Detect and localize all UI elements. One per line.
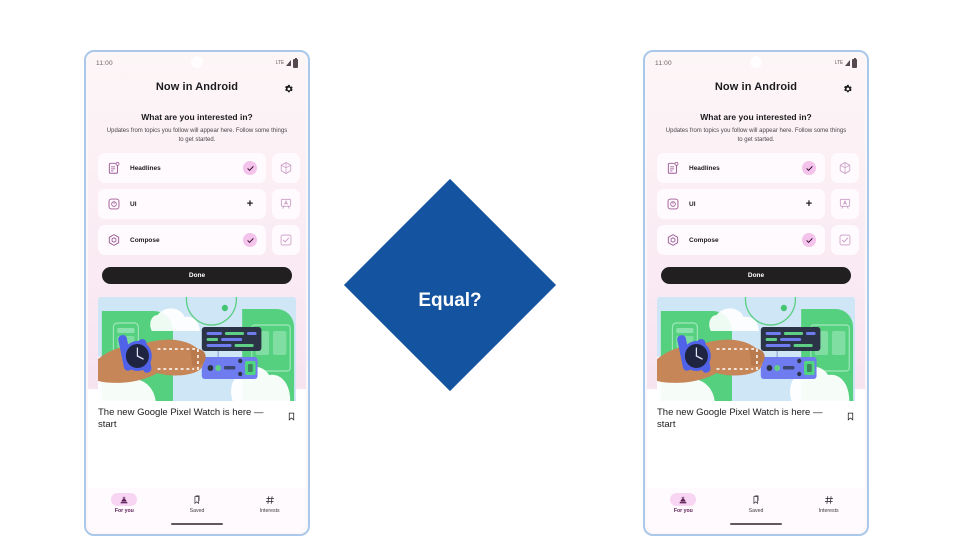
nav-item-for-you[interactable]: For you [647,493,720,514]
topic-card-headlines[interactable]: Headlines [98,153,266,183]
bookmark-icon[interactable] [287,409,296,420]
topic-card-secondary-1[interactable] [272,153,300,183]
nav-label: For you [115,508,134,514]
check-icon[interactable] [243,161,257,175]
gesture-bar [730,523,782,525]
gesture-bar [171,523,223,525]
battery-icon [293,59,298,68]
rounded-square-circle-icon [666,197,680,211]
topic-card-compose[interactable]: Compose [98,225,266,255]
topic-row: UI + [98,189,306,219]
topic-grid: Headlines [647,153,865,255]
for-you-icon [670,493,696,506]
check-icon[interactable] [802,161,816,175]
topic-label: Compose [689,237,793,244]
checkbox-icon [838,233,852,247]
topic-label: Headlines [130,165,234,172]
status-time: 11:00 [655,60,672,67]
check-icon[interactable] [802,233,816,247]
nav-item-interests[interactable]: Interests [233,493,306,514]
topic-card-secondary-2[interactable] [831,189,859,219]
equal-label: Equal? [375,210,525,360]
easel-letter-a-icon [279,197,293,211]
topic-card-ui[interactable]: UI + [657,189,825,219]
nav-label: Saved [749,508,764,514]
nav-label: Saved [190,508,205,514]
comparison-canvas: 11:00 LTE Now in Android What are you in… [0,0,960,540]
document-lines-icon [107,161,121,175]
rounded-square-circle-icon [107,197,121,211]
check-icon[interactable] [243,233,257,247]
pixel-watch-on-wrist-illustration [657,297,855,401]
easel-letter-a-icon [838,197,852,211]
cube-3d-icon [838,161,852,175]
onboarding-subtitle: Updates from topics you follow will appe… [102,127,292,144]
status-bar: 11:00 LTE [647,54,865,72]
nav-item-interests[interactable]: Interests [792,493,865,514]
cube-3d-icon [279,161,293,175]
topic-card-compose[interactable]: Compose [657,225,825,255]
battery-icon [852,59,857,68]
nav-item-saved[interactable]: Saved [720,493,793,514]
topic-card-secondary-1[interactable] [831,153,859,183]
topic-grid: Headlines [88,153,306,255]
hexagon-icon [107,233,121,247]
phone-screen-left: 11:00 LTE Now in Android What are you in… [88,54,306,532]
status-indicators: LTE [276,59,298,68]
bookmarks-icon [743,493,769,506]
phone-screen-right: 11:00 LTE Now in Android What are you in… [647,54,865,532]
onboarding-header: What are you interested in? Updates from… [647,102,865,144]
bookmarks-icon [184,493,210,506]
hexagon-icon [666,233,680,247]
app-bar: Now in Android [88,72,306,102]
document-lines-icon [666,161,680,175]
plus-icon[interactable]: + [802,199,816,209]
topic-label: UI [130,201,234,208]
headline-text: The new Google Pixel Watch is here — sta… [98,407,281,431]
front-camera-punchhole-icon [191,56,203,68]
topic-label: Compose [130,237,234,244]
gear-icon[interactable] [283,82,294,93]
nav-label: Interests [819,508,839,514]
topic-card-secondary-3[interactable] [272,225,300,255]
onboarding-title: What are you interested in? [102,112,292,122]
checkbox-icon [279,233,293,247]
signal-bars-icon [845,60,850,66]
topic-label: UI [689,201,793,208]
app-bar: Now in Android [647,72,865,102]
for-you-icon [111,493,137,506]
phone-mockup-right: 11:00 LTE Now in Android What are you in… [643,50,869,536]
done-button-container: Done [647,255,865,284]
page-title: Now in Android [156,81,238,93]
plus-icon[interactable]: + [243,199,257,209]
feed-headline-card[interactable]: The new Google Pixel Watch is here — sta… [88,401,306,431]
hash-icon [257,493,283,506]
network-label: LTE [276,60,284,66]
feed-headline-card[interactable]: The new Google Pixel Watch is here — sta… [647,401,865,431]
network-label: LTE [835,60,843,66]
topic-card-headlines[interactable]: Headlines [657,153,825,183]
onboarding-title: What are you interested in? [661,112,851,122]
topic-card-ui[interactable]: UI + [98,189,266,219]
page-title: Now in Android [715,81,797,93]
nav-label: For you [674,508,693,514]
topic-card-secondary-2[interactable] [272,189,300,219]
topic-row: Headlines [657,153,865,183]
feed-illustration-container [647,297,865,401]
pixel-watch-on-wrist-illustration [98,297,296,401]
phone-mockup-left: 11:00 LTE Now in Android What are you in… [84,50,310,536]
done-button[interactable]: Done [661,267,851,284]
headline-text: The new Google Pixel Watch is here — sta… [657,407,840,431]
hash-icon [816,493,842,506]
topic-row: Compose [657,225,865,255]
gear-icon[interactable] [842,82,853,93]
bookmark-icon[interactable] [846,409,855,420]
nav-item-for-you[interactable]: For you [88,493,161,514]
topic-card-secondary-3[interactable] [831,225,859,255]
signal-bars-icon [286,60,291,66]
status-time: 11:00 [96,60,113,67]
bottom-navigation: For you Saved Interests [647,488,865,532]
nav-label: Interests [260,508,280,514]
nav-item-saved[interactable]: Saved [161,493,234,514]
topic-label: Headlines [689,165,793,172]
status-bar: 11:00 LTE [88,54,306,72]
topic-row: Compose [98,225,306,255]
topic-row: Headlines [98,153,306,183]
status-indicators: LTE [835,59,857,68]
onboarding-subtitle: Updates from topics you follow will appe… [661,127,851,144]
front-camera-punchhole-icon [750,56,762,68]
done-button[interactable]: Done [102,267,292,284]
done-button-container: Done [88,255,306,284]
topic-row: UI + [657,189,865,219]
onboarding-header: What are you interested in? Updates from… [88,102,306,144]
feed-illustration-container [88,297,306,401]
bottom-navigation: For you Saved Interests [88,488,306,532]
